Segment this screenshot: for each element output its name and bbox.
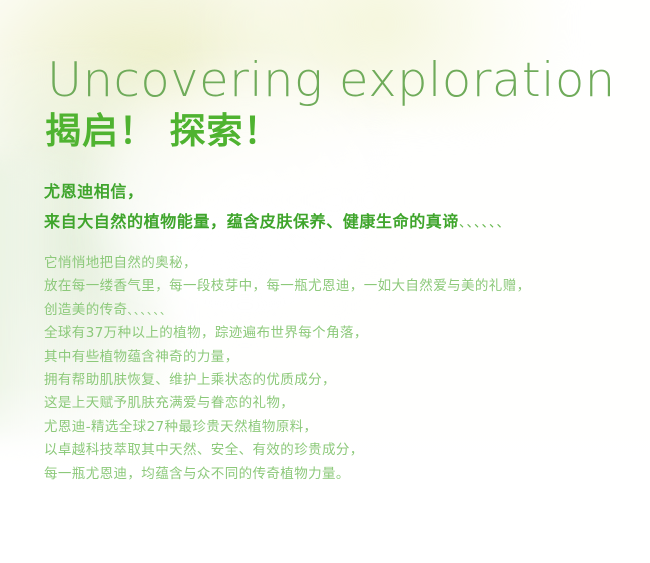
lead-line: 尤恩迪相信，: [44, 178, 644, 208]
lead-line-text: 尤恩迪相信，: [44, 182, 144, 201]
headline-chinese: 揭启！ 探索！: [45, 112, 281, 152]
body-line-text: 这是上天赋予肌肤充满爱与眷恋的礼物，: [44, 395, 294, 411]
body-line: 放在每一缕香气里，每一段枝芽中，每一瓶尤恩迪，一如大自然爱与美的礼赠，: [44, 275, 644, 298]
body-line-ellipsis: 、、、、、、: [127, 304, 172, 317]
body-line-text: 尤恩迪-精选全球27种最珍贵天然植物原料，: [44, 419, 317, 435]
body-line: 它悄悄地把自然的奥秘，: [44, 252, 644, 275]
body-paragraph: 它悄悄地把自然的奥秘， 放在每一缕香气里，每一段枝芽中，每一瓶尤恩迪，一如大自然…: [44, 252, 644, 486]
body-line: 全球有37万种以上的植物，踪迹遍布世界每个角落，: [44, 322, 644, 345]
body-line-text: 每一瓶尤恩迪，均蕴含与众不同的传奇植物力量。: [44, 466, 350, 482]
body-line: 这是上天赋予肌肤充满爱与眷恋的礼物，: [44, 392, 644, 415]
body-line: 每一瓶尤恩迪，均蕴含与众不同的传奇植物力量。: [44, 463, 644, 486]
banner-content: Uncovering exploration 揭启！ 探索！ 尤恩迪相信， 来自…: [0, 0, 650, 563]
body-line-text: 以卓越科技萃取其中天然、安全、有效的珍贵成分，: [44, 442, 364, 458]
body-line-text: 拥有帮助肌肤恢复、维护上乘状态的优质成分，: [44, 372, 336, 388]
body-line-text: 创造美的传奇: [44, 302, 127, 318]
lead-paragraph: 尤恩迪相信， 来自大自然的植物能量，蕴含皮肤保养、健康生命的真谛、、、、、、: [44, 178, 644, 238]
body-line-text: 全球有37万种以上的植物，踪迹遍布世界每个角落，: [44, 325, 368, 341]
body-line-text: 放在每一缕香气里，每一段枝芽中，每一瓶尤恩迪，一如大自然爱与美的礼赠，: [44, 278, 531, 294]
lead-line-ellipsis: 、、、、、、: [459, 216, 511, 231]
headline-english: Uncovering exploration: [47, 57, 616, 104]
body-line-text: 它悄悄地把自然的奥秘，: [44, 255, 197, 271]
body-line-text: 其中有些植物蕴含神奇的力量，: [44, 349, 239, 365]
body-line: 尤恩迪-精选全球27种最珍贵天然植物原料，: [44, 416, 644, 439]
lead-line-text: 来自大自然的植物能量，蕴含皮肤保养、健康生命的真谛: [44, 212, 459, 231]
lead-line: 来自大自然的植物能量，蕴含皮肤保养、健康生命的真谛、、、、、、: [44, 208, 644, 238]
body-line: 拥有帮助肌肤恢复、维护上乘状态的优质成分，: [44, 369, 644, 392]
body-line: 以卓越科技萃取其中天然、安全、有效的珍贵成分，: [44, 439, 644, 462]
promotional-banner: Uncovering exploration 揭启！ 探索！ 尤恩迪相信， 来自…: [0, 0, 650, 563]
body-line: 创造美的传奇、、、、、、: [44, 299, 644, 322]
body-line: 其中有些植物蕴含神奇的力量，: [44, 346, 644, 369]
